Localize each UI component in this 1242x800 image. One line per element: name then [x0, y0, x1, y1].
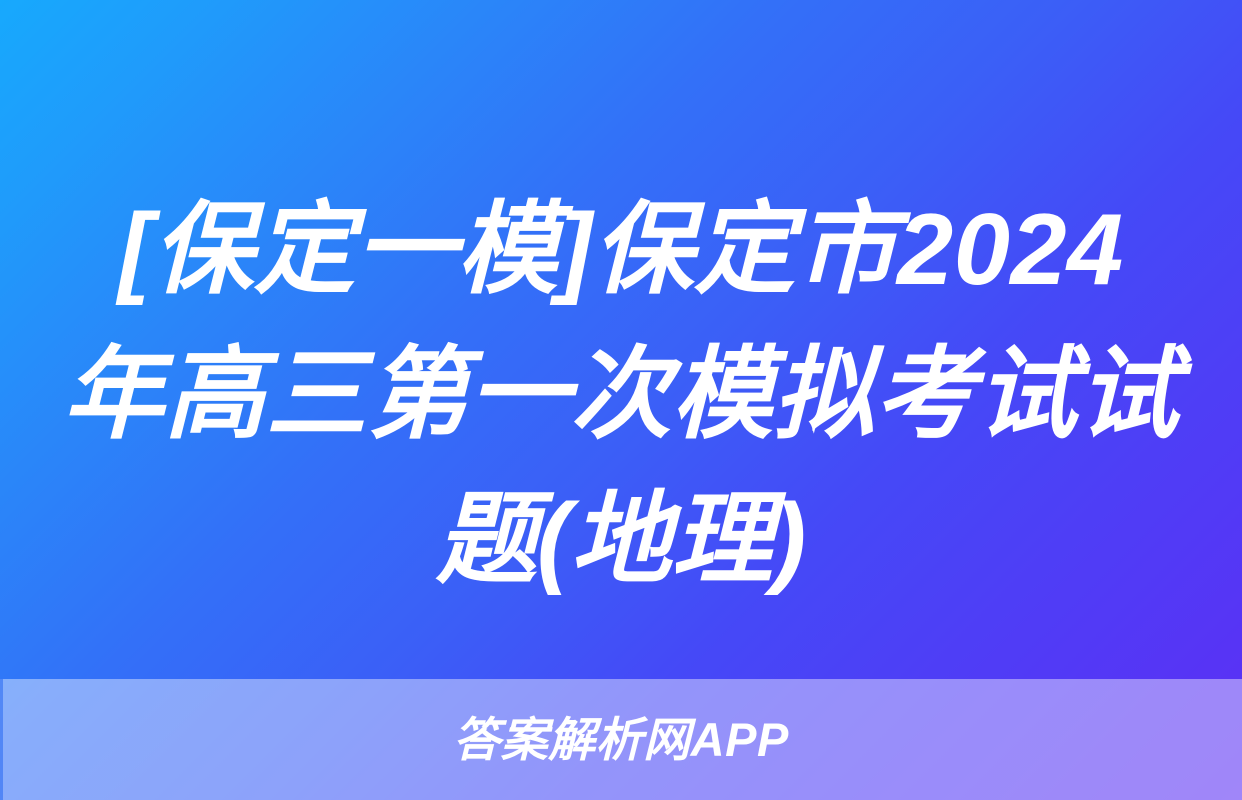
title-line-3: 题(地理) — [0, 468, 1242, 613]
poster-title: [保定一模]保定市2024 年高三第一次模拟考试试 题(地理) — [0, 178, 1242, 628]
title-line-1: [保定一模]保定市2024 — [0, 178, 1242, 323]
banner-brand-label: 答案解析网APP — [453, 716, 789, 763]
watermark-banner: 答案解析网APP — [0, 679, 1242, 800]
title-line-2: 年高三第一次模拟考试试 — [0, 323, 1242, 468]
poster-canvas: [保定一模]保定市2024 年高三第一次模拟考试试 题(地理) 答案解析网APP — [0, 0, 1242, 800]
banner-left-edge — [0, 679, 3, 800]
